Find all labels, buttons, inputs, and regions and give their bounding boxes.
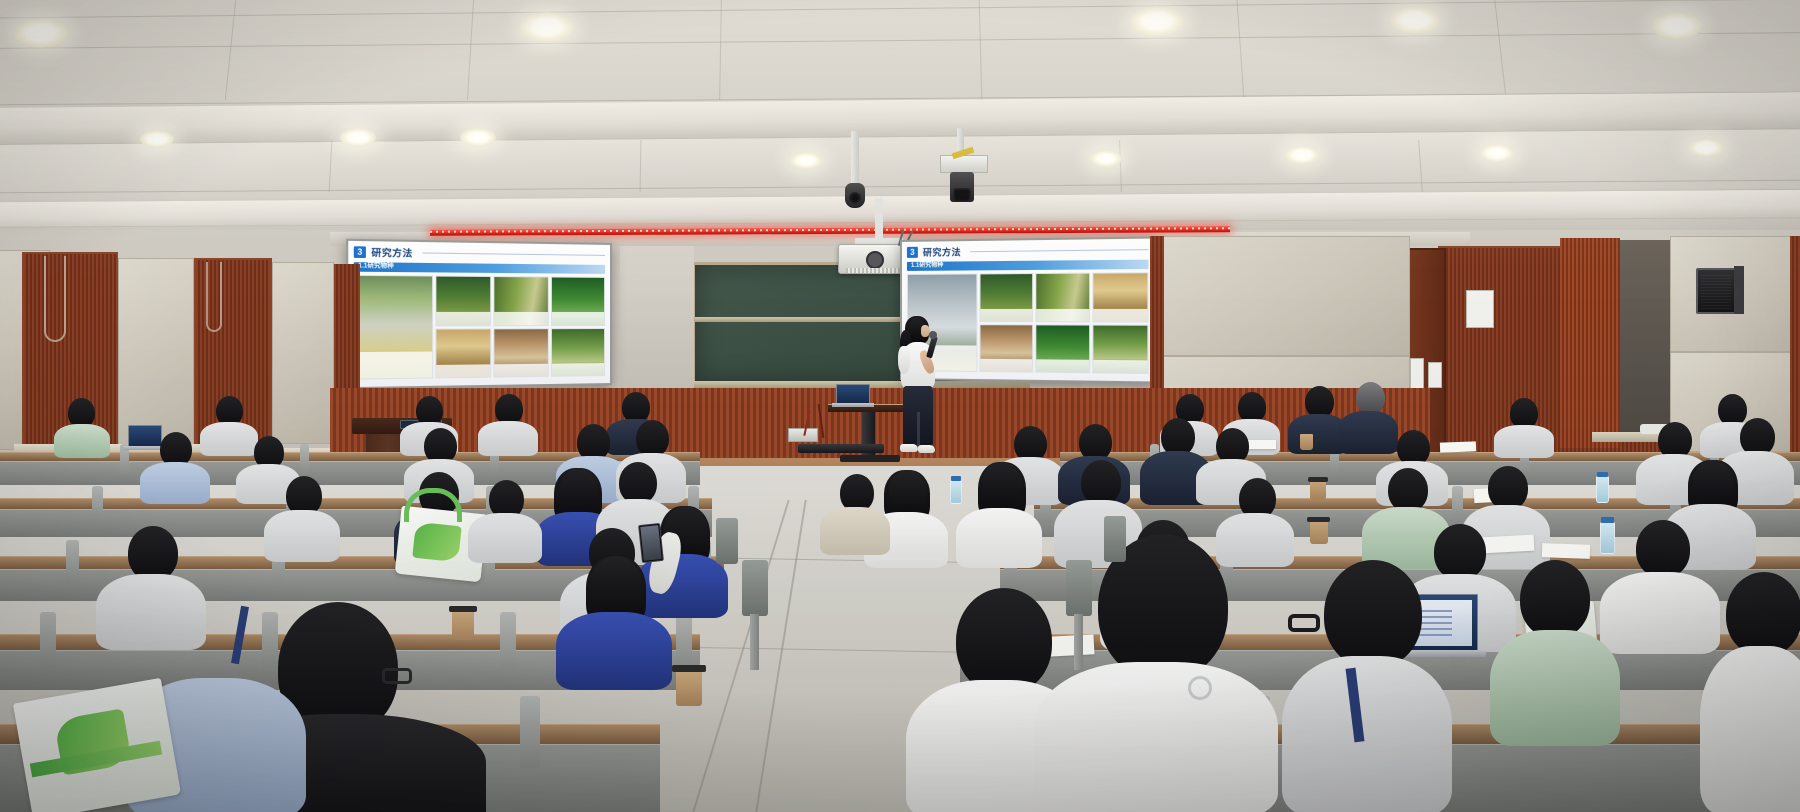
left-wall-cable <box>44 256 66 342</box>
eyeglasses <box>1288 614 1320 632</box>
tote-bag-graphic <box>412 522 462 563</box>
slide-title-rule <box>970 249 1148 252</box>
seat-back <box>1104 516 1126 562</box>
seat-back <box>742 560 768 616</box>
slide-photo <box>551 276 605 325</box>
left-slide-header: 3 研究方法 <box>354 245 605 262</box>
ceiling <box>0 0 1800 250</box>
coffee-cup <box>1310 520 1328 544</box>
seat-leg <box>750 614 759 670</box>
cup-lid <box>1308 477 1328 482</box>
ceiling-camera-housing[interactable] <box>940 155 988 173</box>
loudspeaker-bracket <box>1734 266 1744 314</box>
audience-member <box>1700 572 1800 812</box>
ceiling-downlight <box>14 18 68 48</box>
shirt-logo <box>1188 676 1212 700</box>
wall-control-panel[interactable] <box>1466 290 1494 328</box>
slide-photo <box>1035 273 1090 322</box>
camera-lens-icon <box>849 192 861 204</box>
slide-photo <box>354 275 433 380</box>
slide-photo <box>1035 324 1090 373</box>
microphone-head-icon <box>929 331 937 339</box>
presenter-shoe <box>900 444 918 452</box>
ceiling-downlight <box>1285 146 1319 164</box>
audience-member <box>820 474 890 554</box>
slide-title: 研究方法 <box>371 245 412 259</box>
slide-subsection: 1.1研究物种 <box>907 260 1149 271</box>
slide-photo <box>980 324 1034 373</box>
ceiling-downlight <box>1688 138 1724 157</box>
presenter <box>896 316 940 464</box>
seat-back <box>1066 560 1092 616</box>
section-number-badge: 3 <box>907 247 918 258</box>
audience-member <box>1494 398 1554 456</box>
audience-member <box>956 462 1042 566</box>
seat-leg <box>1074 614 1083 670</box>
left-wall-stone-panel <box>118 258 194 448</box>
left-wall-cable <box>206 262 222 332</box>
slide-photo <box>551 328 605 377</box>
projector-lens-icon <box>866 251 884 269</box>
coffee-cup <box>1300 434 1313 450</box>
bottle-cap <box>1597 472 1608 477</box>
projector-mount <box>875 198 883 240</box>
slide-photo-grid <box>907 272 1149 374</box>
slide-photo <box>1092 324 1148 374</box>
slide-photo <box>1092 272 1148 322</box>
wall-mounted-loudspeaker <box>1696 268 1736 314</box>
coffee-cup <box>1310 480 1326 500</box>
audience-member <box>478 394 538 454</box>
seat-back <box>716 518 738 564</box>
camera-lens-icon <box>953 188 971 202</box>
presenter-leg-gap <box>917 412 920 446</box>
slide-subsection: 1.1研究物种 <box>354 262 605 274</box>
slide-photo-grid <box>354 275 605 380</box>
audience-member <box>556 556 672 686</box>
right-wall-wood-panel <box>1560 238 1620 448</box>
ceiling-downlight <box>1390 6 1440 34</box>
presenter-laptop[interactable] <box>836 384 870 404</box>
audience-member <box>140 432 210 502</box>
cup-lid <box>1307 517 1330 522</box>
left-projection-screen[interactable]: 3 研究方法 1.1研究物种 <box>346 239 612 390</box>
ceiling-downlight <box>790 152 822 169</box>
slide-photo <box>435 328 492 379</box>
slide-photo <box>980 273 1034 322</box>
ceiling-downlight <box>140 130 174 148</box>
slide-photo <box>494 328 549 378</box>
left-wall-stone-panel <box>272 262 334 444</box>
audience-member <box>1216 478 1294 566</box>
right-wall-recess <box>1620 240 1670 440</box>
door-sign <box>1410 358 1424 390</box>
left-slide: 3 研究方法 1.1研究物种 <box>348 241 610 387</box>
ceiling-downlight <box>1130 6 1184 36</box>
slide-photo <box>435 276 492 326</box>
slide-title: 研究方法 <box>923 245 961 259</box>
section-number-badge: 3 <box>354 246 366 258</box>
water-bottle <box>1596 476 1609 503</box>
presenter-sleeve <box>898 346 910 374</box>
eyeglasses <box>382 668 412 684</box>
cup-lid <box>672 665 706 672</box>
audience-member <box>468 480 542 562</box>
ceiling-downlight <box>340 128 376 147</box>
ceiling-downlight <box>1652 12 1702 40</box>
ceiling-downlight <box>1480 144 1514 162</box>
ceiling-downlight <box>520 12 574 42</box>
coffee-cup <box>676 670 702 706</box>
paper-sheet <box>1542 543 1590 559</box>
audience-member <box>54 398 110 454</box>
laptop-base <box>832 403 874 407</box>
audience-member <box>1490 560 1620 740</box>
camera-mount-pole <box>851 131 859 186</box>
door-sign <box>1428 362 1442 388</box>
ceiling-downlight <box>460 128 496 147</box>
lecture-hall-photo: 3 研究方法 1.1研究物种 3 研究方法 1.1研究物 <box>0 0 1800 812</box>
slide-title-rule <box>422 252 605 255</box>
ceiling-downlight <box>1090 150 1122 167</box>
right-slide-header: 3 研究方法 <box>907 243 1149 259</box>
audience-member <box>264 476 340 560</box>
audience-member-foreground <box>1282 560 1452 812</box>
slide-photo <box>494 276 549 326</box>
upper-wall-band <box>1160 236 1410 356</box>
